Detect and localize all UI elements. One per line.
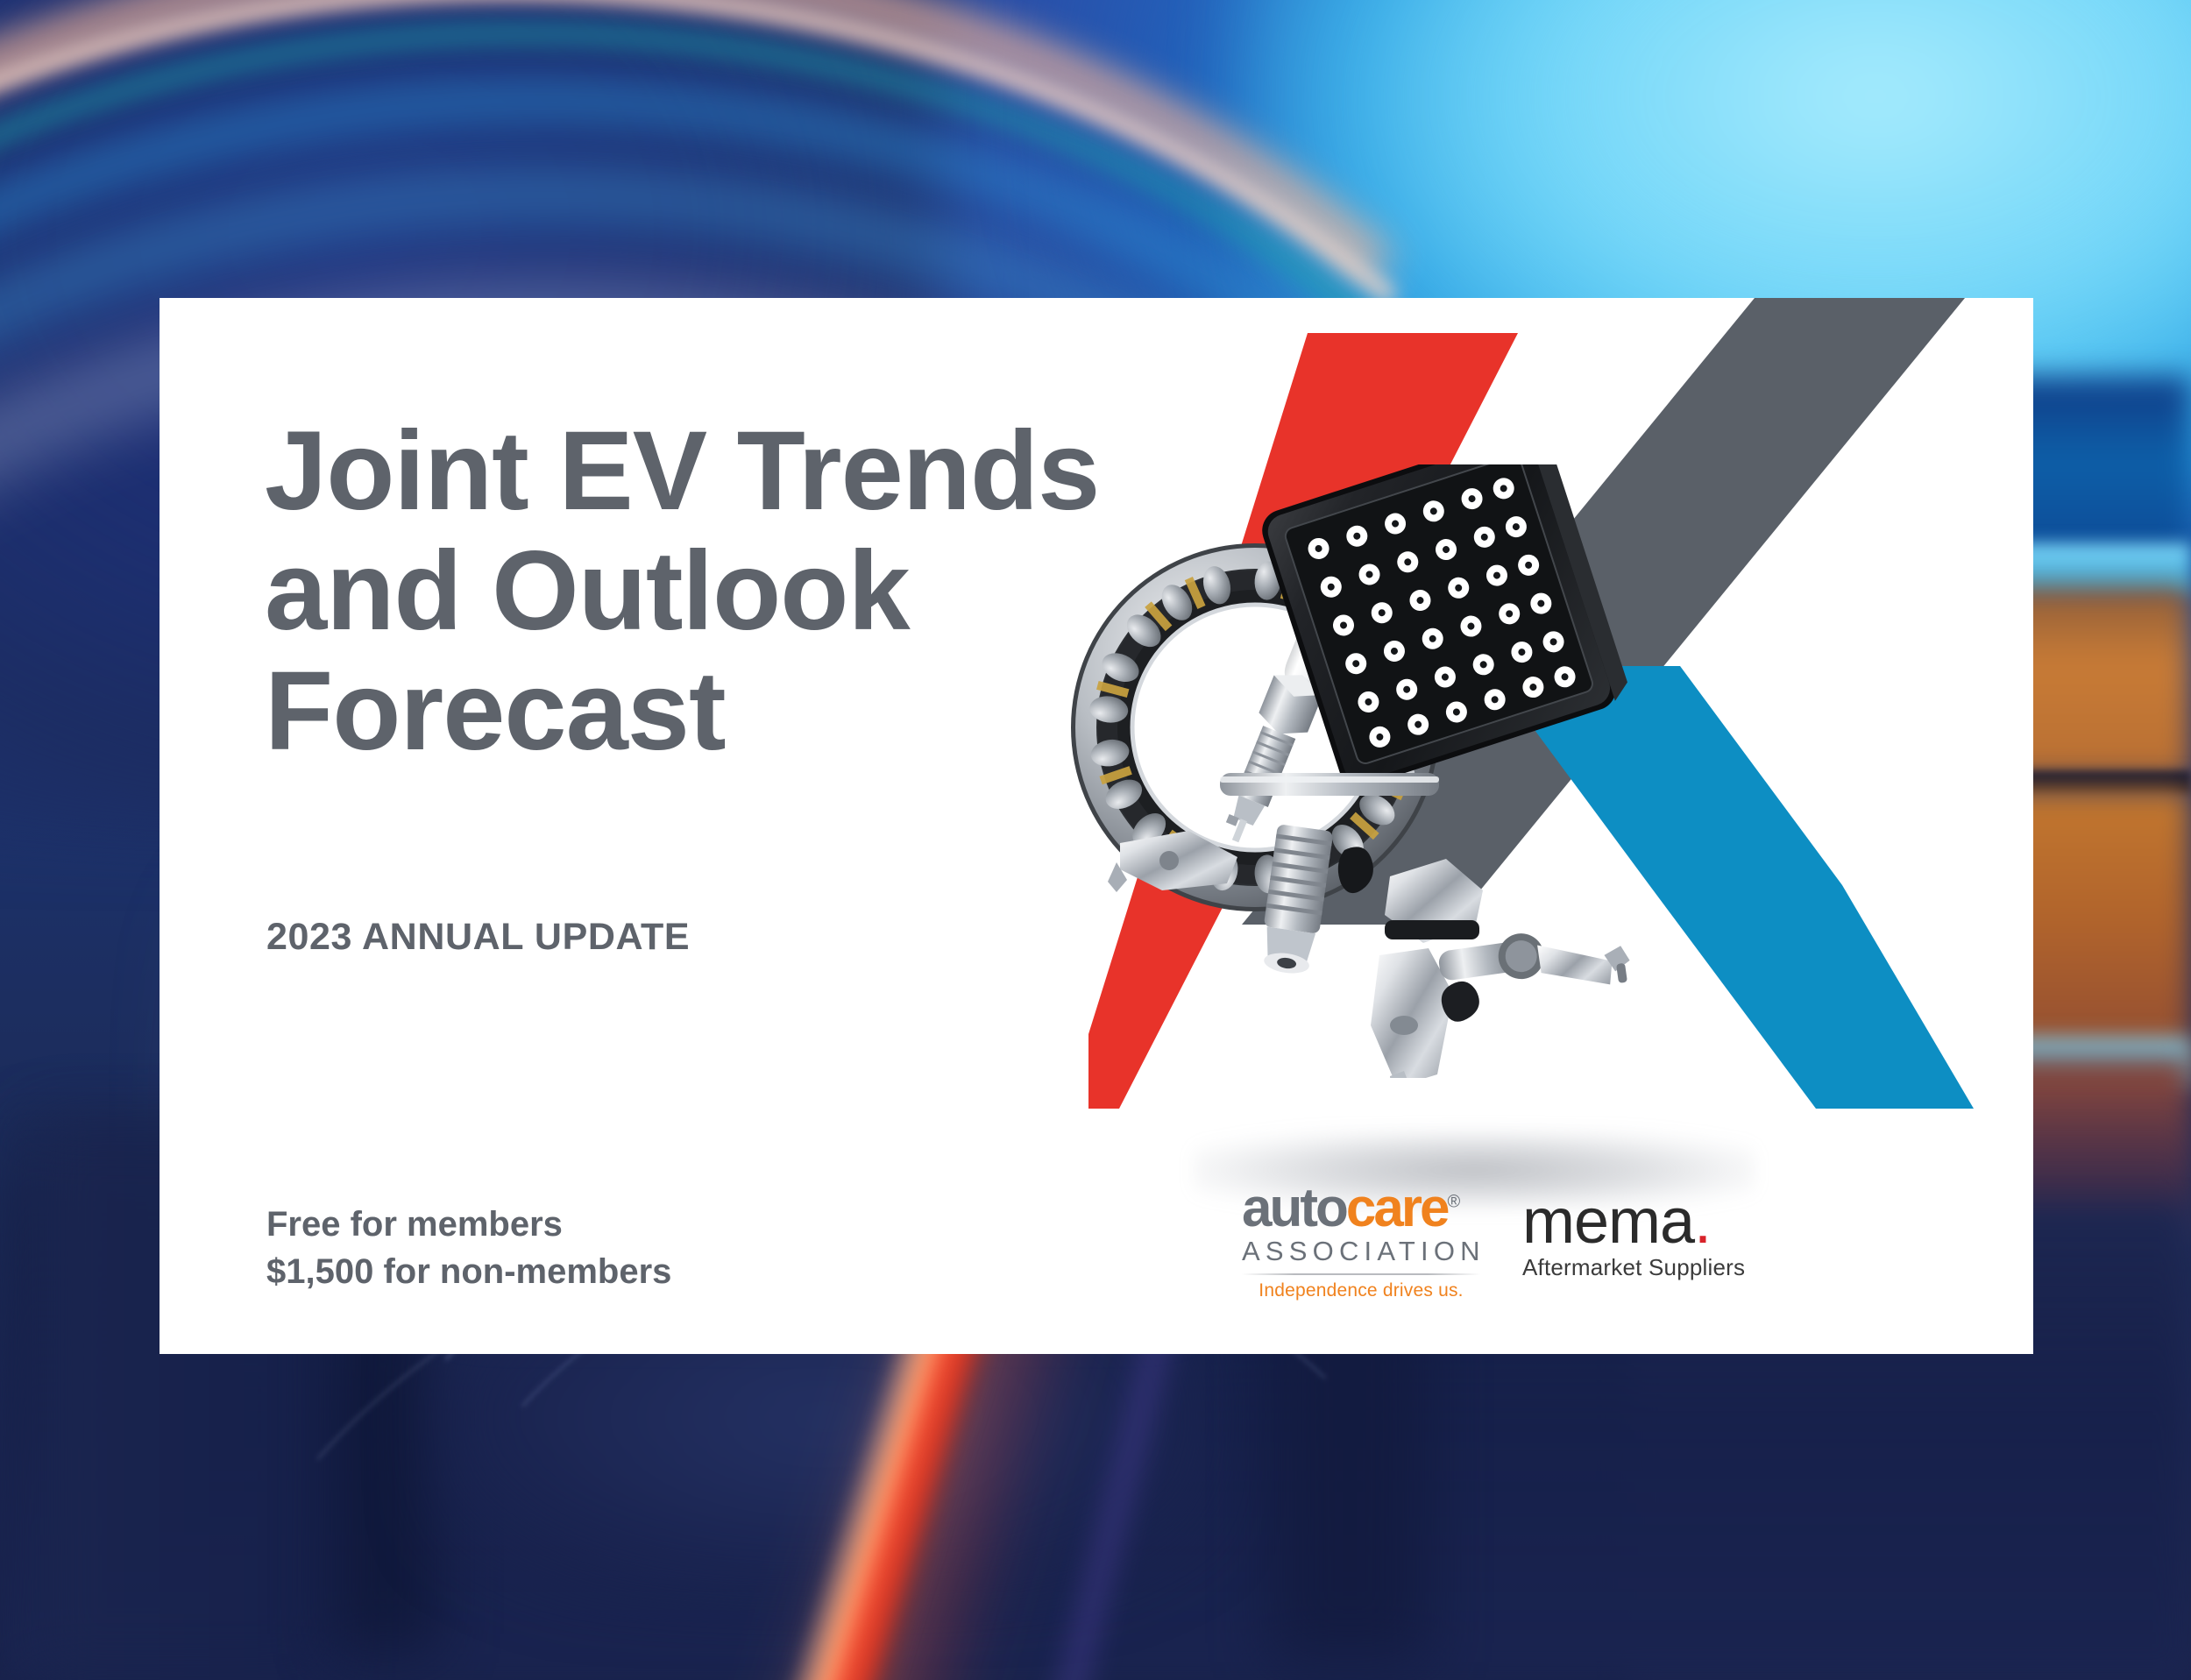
autocare-association-text: ASSOCIATION [1242,1236,1480,1267]
autocare-divider [1242,1273,1480,1275]
x-stroke-blue-lower [1649,885,1974,1109]
pricing-non-members: $1,500 for non-members [266,1248,671,1295]
page-title: Joint EV Trends and Outlook Forecast [265,412,1299,772]
pricing-block: Free for members $1,500 for non-members [266,1201,671,1295]
logo-row: autocare® ASSOCIATION Independence drive… [1242,1181,1785,1301]
title-slide-card: Joint EV Trends and Outlook Forecast 202… [160,298,2033,1354]
mema-wordmark: mema. [1522,1194,1785,1251]
registered-trademark-icon: ® [1447,1192,1460,1211]
autocare-word-care: care [1346,1178,1448,1238]
autocare-association-logo: autocare® ASSOCIATION Independence drive… [1242,1181,1480,1301]
mema-dot-icon: . [1694,1187,1711,1257]
pricing-members: Free for members [266,1201,671,1248]
mema-word: mema [1522,1187,1694,1257]
mema-logo: mema. Aftermarket Suppliers [1522,1181,1785,1281]
autocare-tagline: Independence drives us. [1242,1280,1480,1301]
autocare-word-auto: auto [1242,1178,1346,1238]
autocare-wordmark: autocare® [1242,1183,1480,1233]
mema-subtitle: Aftermarket Suppliers [1522,1254,1785,1281]
slide-subtitle: 2023 ANNUAL UPDATE [266,916,690,959]
